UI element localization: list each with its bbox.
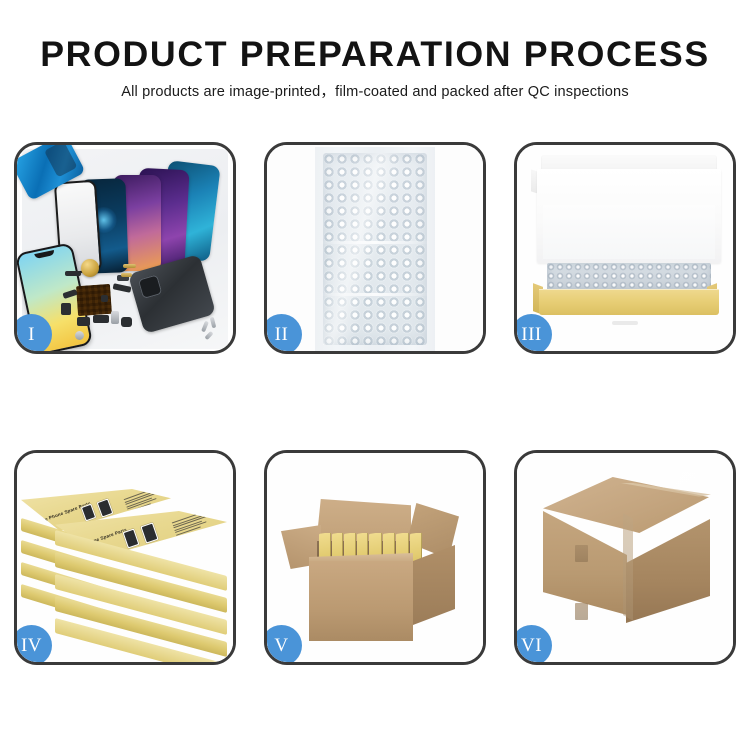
phone-print-icon: [123, 529, 140, 549]
packing-tape-icon: [623, 513, 633, 621]
step-numeral: III: [521, 325, 541, 344]
box-tray-notch: [612, 321, 638, 325]
process-step-panel-1: I: [14, 142, 236, 354]
step-numeral: II: [275, 325, 289, 344]
carton-seal-icon: [575, 545, 588, 562]
product-preparation-infographic: PRODUCT PREPARATION PROCESS All products…: [0, 0, 750, 750]
spare-part-icon: [121, 317, 132, 327]
panel-2-image: II: [267, 145, 483, 351]
carton-front-face: [309, 561, 413, 641]
speaker-coil-icon: [81, 259, 99, 277]
process-step-panel-3: III: [514, 142, 736, 354]
spare-part-icon: [93, 315, 109, 323]
bubble-wrap-seam: [319, 241, 431, 244]
process-step-panel-2: II: [264, 142, 486, 354]
box-lid-inner-face: [543, 205, 715, 259]
process-step-grid: I II: [0, 0, 750, 750]
step-numeral: I: [28, 325, 35, 344]
panel-6-image: VI: [517, 453, 733, 662]
phone-print-icon: [81, 504, 96, 522]
panel-5-image: V: [267, 453, 483, 662]
step-numeral: V: [274, 636, 288, 655]
bubble-wrap-seam: [319, 293, 431, 296]
bubble-wrap-gloss: [323, 153, 427, 345]
spare-part-icon: [101, 295, 108, 302]
process-step-panel-4: Mobile Phone Spare Parts Mobile Phone Sp…: [14, 450, 236, 665]
spare-part-icon: [75, 331, 84, 340]
phone-print-icon: [97, 498, 114, 517]
spare-part-icon: [111, 311, 119, 324]
process-step-panel-6: VI: [514, 450, 736, 665]
panel-3-image: III: [517, 145, 733, 351]
spare-part-icon: [123, 264, 136, 268]
spare-part-icon: [121, 273, 132, 277]
spare-part-icon: [77, 317, 90, 326]
spare-part-icon: [61, 303, 71, 315]
process-step-panel-5: V: [264, 450, 486, 665]
phone-print-icon: [140, 522, 158, 543]
step-numeral: IV: [21, 636, 42, 655]
panel-1-image: I: [17, 145, 233, 351]
kraft-box-tray-icon: [539, 289, 719, 315]
bubble-wrap-contents-icon: [547, 263, 711, 291]
carton-seal-icon: [575, 603, 588, 620]
panel-4-image: Mobile Phone Spare Parts Mobile Phone Sp…: [17, 453, 233, 662]
step-numeral: VI: [521, 636, 542, 655]
spare-part-icon: [65, 271, 81, 276]
